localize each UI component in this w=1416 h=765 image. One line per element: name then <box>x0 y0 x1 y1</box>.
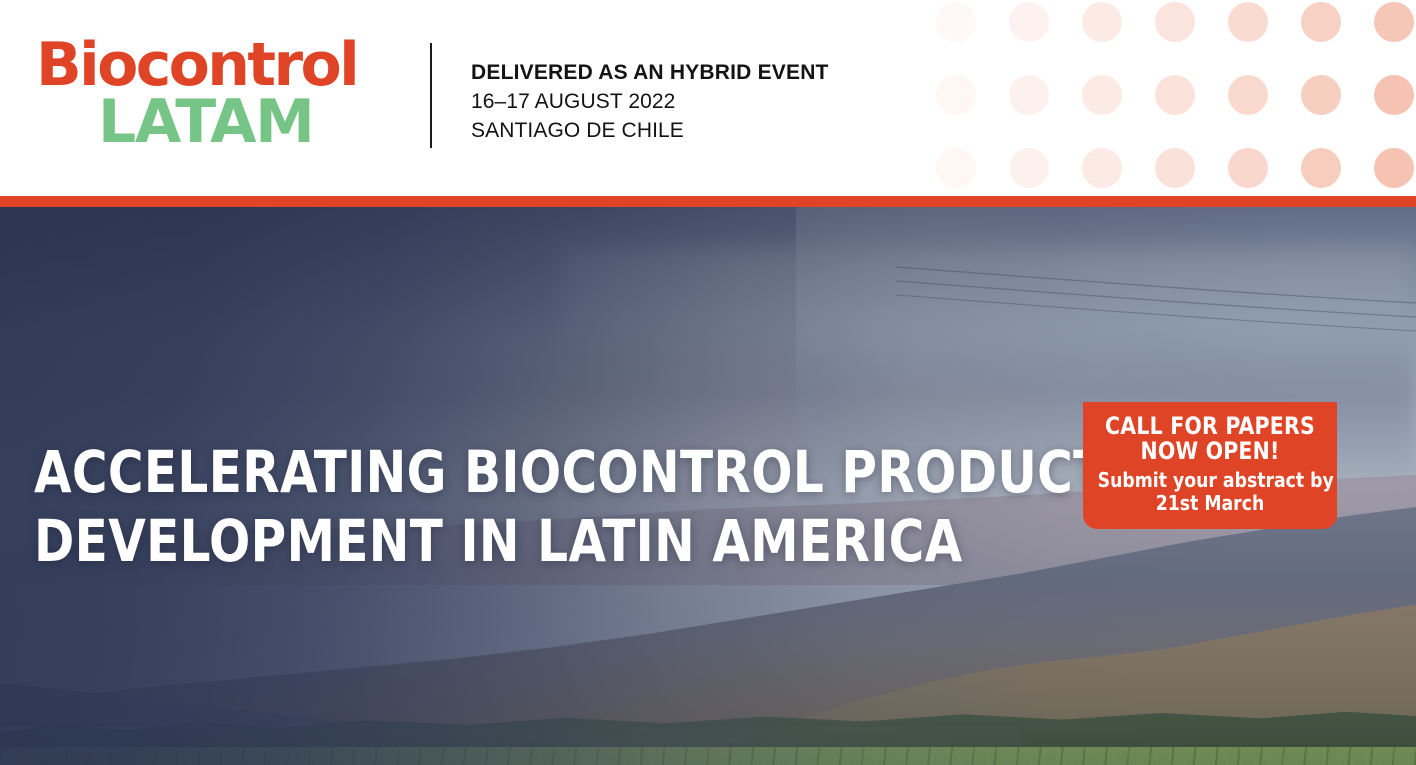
event-format: DELIVERED AS AN HYBRID EVENT <box>471 58 829 87</box>
event-location: SANTIAGO DE CHILE <box>471 116 829 145</box>
cfp-sub-line1: Submit your abstract by <box>1098 469 1323 492</box>
hero-headline-line1: ACCELERATING BIOCONTROL PRODUCT <box>34 438 1107 507</box>
event-banner: Biocontrol LATAM DELIVERED AS AN HYBRID … <box>0 0 1416 765</box>
cfp-title-line2: NOW OPEN! <box>1099 439 1321 464</box>
brand-logo[interactable]: Biocontrol LATAM <box>36 38 406 152</box>
cfp-title-line1: CALL FOR PAPERS <box>1099 414 1321 439</box>
event-details: DELIVERED AS AN HYBRID EVENT 16–17 AUGUS… <box>471 58 829 145</box>
call-for-papers-badge[interactable]: CALL FOR PAPERS NOW OPEN! Submit your ab… <box>1083 402 1337 529</box>
accent-rule <box>0 196 1416 207</box>
hero-section: ACCELERATING BIOCONTROL PRODUCT DEVELOPM… <box>0 196 1416 765</box>
header-divider <box>430 43 432 148</box>
brand-logo-biocontrol: Biocontrol <box>36 38 406 93</box>
cfp-sub-line2: 21st March <box>1098 492 1323 515</box>
brand-logo-latam: LATAM <box>36 93 406 152</box>
cfp-subtitle: Submit your abstract by 21st March <box>1098 469 1323 515</box>
hero-top-shade <box>0 207 1416 407</box>
banner-header: Biocontrol LATAM DELIVERED AS AN HYBRID … <box>0 0 1416 196</box>
hero-headline: ACCELERATING BIOCONTROL PRODUCT DEVELOPM… <box>34 438 1107 576</box>
decorative-dot-pattern <box>936 0 1416 196</box>
hero-headline-line2: DEVELOPMENT IN LATIN AMERICA <box>34 507 1107 576</box>
event-dates: 16–17 AUGUST 2022 <box>471 87 829 116</box>
cfp-title: CALL FOR PAPERS NOW OPEN! <box>1099 414 1321 464</box>
